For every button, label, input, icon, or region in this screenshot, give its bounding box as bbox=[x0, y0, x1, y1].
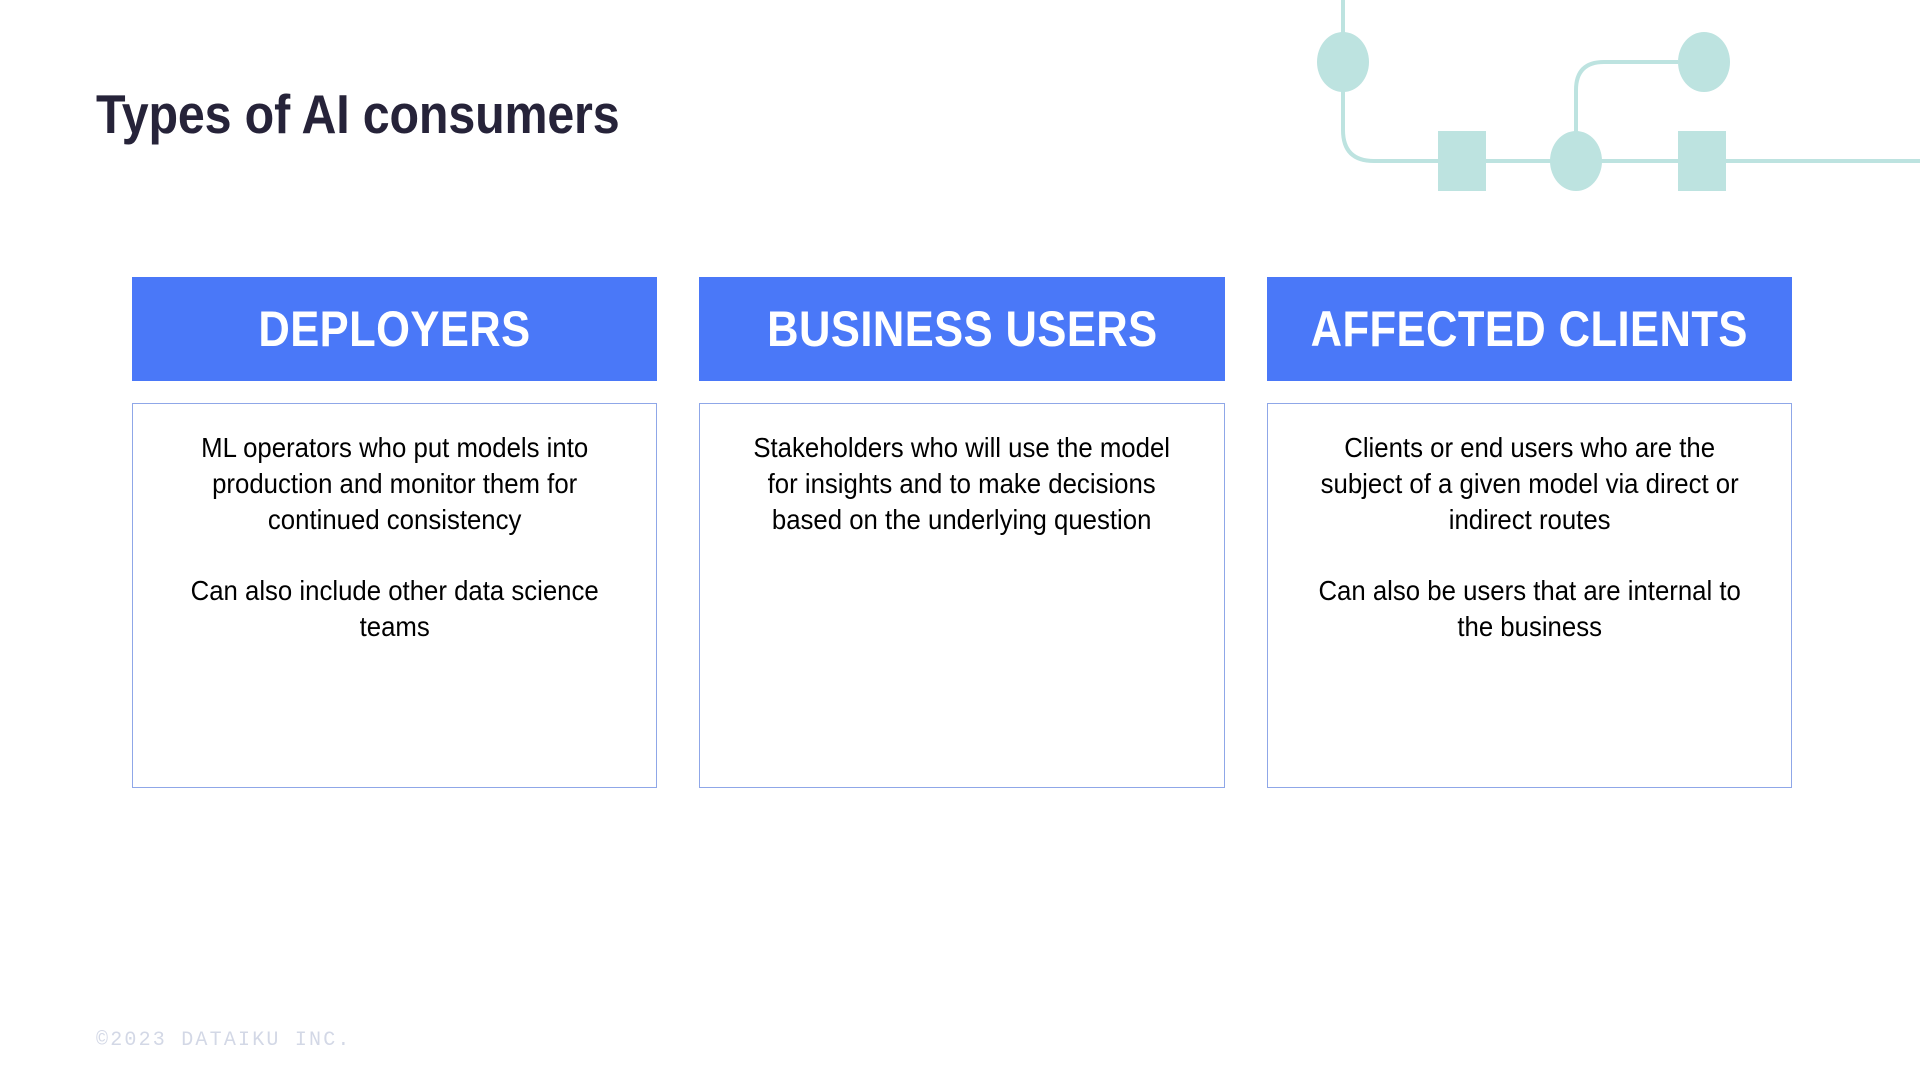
column-header-label: DEPLOYERS bbox=[259, 300, 531, 358]
column-paragraph: ML operators who put models into product… bbox=[172, 430, 617, 537]
deco-circle-1 bbox=[1317, 32, 1369, 92]
consumer-type-columns: DEPLOYERS ML operators who put models in… bbox=[132, 277, 1792, 788]
column-paragraph: Stakeholders who will use the model for … bbox=[740, 430, 1185, 537]
consumer-column-business-users: BUSINESS USERS Stakeholders who will use… bbox=[699, 277, 1224, 788]
column-paragraph: Clients or end users who are the subject… bbox=[1307, 430, 1752, 537]
pipeline-flow-graphic bbox=[1300, 0, 1920, 215]
consumer-column-deployers: DEPLOYERS ML operators who put models in… bbox=[132, 277, 657, 788]
column-body-business-users: Stakeholders who will use the model for … bbox=[699, 403, 1224, 788]
deco-path-branch bbox=[1576, 62, 1678, 161]
column-header-deployers: DEPLOYERS bbox=[132, 277, 657, 381]
column-header-label: AFFECTED CLIENTS bbox=[1311, 300, 1748, 358]
column-header-business-users: BUSINESS USERS bbox=[699, 277, 1224, 381]
consumer-column-affected-clients: AFFECTED CLIENTS Clients or end users wh… bbox=[1267, 277, 1792, 788]
column-paragraph: Can also be users that are internal to t… bbox=[1307, 573, 1752, 645]
deco-circle-2 bbox=[1550, 131, 1602, 191]
deco-path-main bbox=[1343, 0, 1920, 161]
page-title: Types of AI consumers bbox=[96, 82, 619, 146]
column-body-deployers: ML operators who put models into product… bbox=[132, 403, 657, 788]
deco-square-2 bbox=[1678, 131, 1726, 191]
column-body-affected-clients: Clients or end users who are the subject… bbox=[1267, 403, 1792, 788]
deco-circle-3 bbox=[1678, 32, 1730, 92]
slide-canvas: Types of AI consumers DEPLOYERS ML opera… bbox=[0, 0, 1920, 1080]
column-header-label: BUSINESS USERS bbox=[767, 300, 1157, 358]
deco-square-1 bbox=[1438, 131, 1486, 191]
column-header-affected-clients: AFFECTED CLIENTS bbox=[1267, 277, 1792, 381]
column-paragraph: Can also include other data science team… bbox=[172, 573, 617, 645]
copyright-footer: ©2023 DATAIKU INC. bbox=[96, 1029, 352, 1052]
